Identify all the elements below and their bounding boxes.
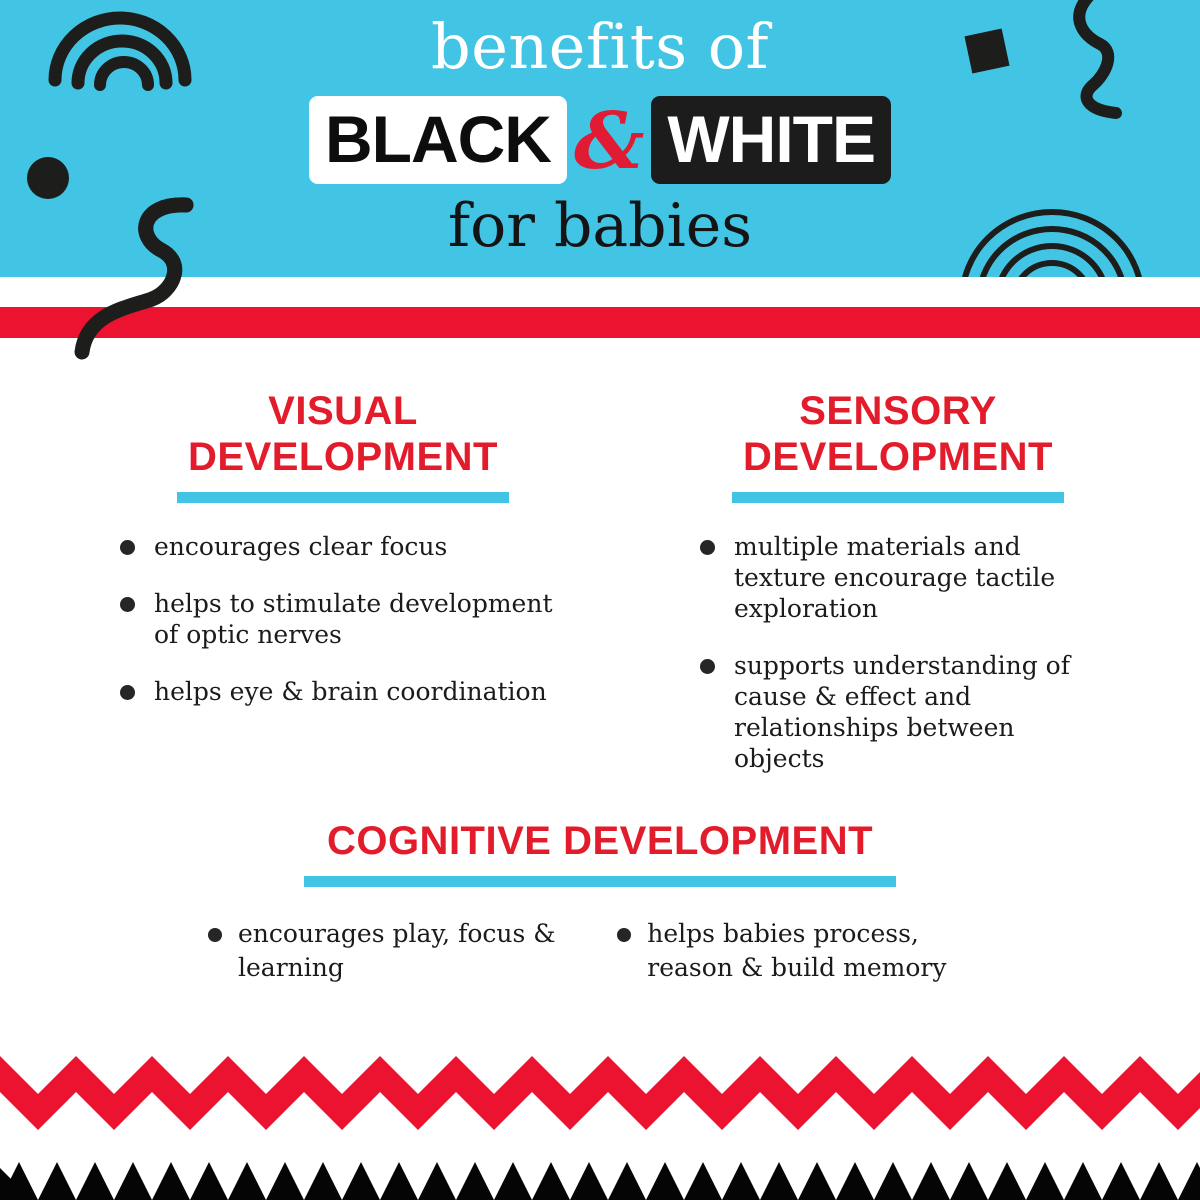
red-divider-bar [0,307,1200,338]
list-item-text: multiple materials and texture encourage… [734,532,1055,623]
header-band: benefits of BLACK & WHITE for babies [0,0,1200,277]
list-item-text: supports understanding of cause & effect… [734,651,1070,773]
ampersand: & [567,103,651,181]
section-underline-sensory [732,492,1064,503]
list-item: encourages play, focus & learning [208,917,561,985]
title-line-benefits: benefits of [0,12,1200,82]
list-item-text: helps to stimulate development of optic … [154,589,553,649]
bullet-list-cognitive-right: helps babies process, reason & build mem… [617,917,1000,985]
bullet-list-visual: encourages clear focus helps to stimulat… [120,531,578,707]
list-item: supports understanding of cause & effect… [700,650,1108,774]
section-title-sensory-line2: DEVELOPMENT [743,435,1053,479]
footer-chevron-pattern [0,1036,1200,1200]
title-black-and-white: BLACK & WHITE [0,96,1200,184]
header-titles: benefits of BLACK & WHITE for babies [0,0,1200,277]
section-underline-cognitive [304,876,896,887]
bullet-dot-icon [120,685,135,700]
bullet-dot-icon [700,540,715,555]
section-title-sensory-line1: SENSORY [799,389,997,433]
section-title-sensory: SENSORY DEVELOPMENT [688,388,1108,480]
word-white: WHITE [651,96,891,184]
bullet-list-sensory: multiple materials and texture encourage… [700,531,1108,774]
list-item-text: encourages clear focus [154,532,447,561]
list-item: helps babies process, reason & build mem… [617,917,1000,985]
section-title-cognitive: COGNITIVE DEVELOPMENT [200,818,1000,864]
bullet-dot-icon [120,597,135,612]
infographic-poster: benefits of BLACK & WHITE for babies VIS… [0,0,1200,1200]
black-zigzag-band-main [0,1162,1200,1200]
bullet-dot-icon [617,928,631,942]
title-line-for-babies: for babies [0,192,1200,260]
section-title-visual-line2: DEVELOPMENT [188,435,498,479]
section-cognitive-development: COGNITIVE DEVELOPMENT encourages play, f… [200,818,1000,985]
list-item: helps eye & brain coordination [120,676,578,707]
cognitive-column-right: helps babies process, reason & build mem… [617,917,1000,985]
bullet-dot-icon [700,659,715,674]
list-item-text: helps babies process, reason & build mem… [647,919,946,982]
cognitive-bullets-row: encourages play, focus & learning helps … [200,917,1000,985]
list-item: encourages clear focus [120,531,578,562]
red-chevron-band [0,1056,1200,1130]
list-item: helps to stimulate development of optic … [120,588,578,650]
section-title-visual: VISUAL DEVELOPMENT [108,388,578,480]
word-black: BLACK [309,96,567,184]
section-title-visual-line1: VISUAL [268,389,418,433]
section-visual-development: VISUAL DEVELOPMENT encourages clear focu… [108,388,578,707]
section-sensory-development: SENSORY DEVELOPMENT multiple materials a… [688,388,1108,774]
section-underline-visual [177,492,509,503]
cognitive-column-left: encourages play, focus & learning [208,917,561,985]
list-item-text: encourages play, focus & learning [238,919,556,982]
list-item: multiple materials and texture encourage… [700,531,1108,624]
list-item-text: helps eye & brain coordination [154,677,547,706]
bullet-list-cognitive-left: encourages play, focus & learning [208,917,561,985]
bullet-dot-icon [208,928,222,942]
bullet-dot-icon [120,540,135,555]
